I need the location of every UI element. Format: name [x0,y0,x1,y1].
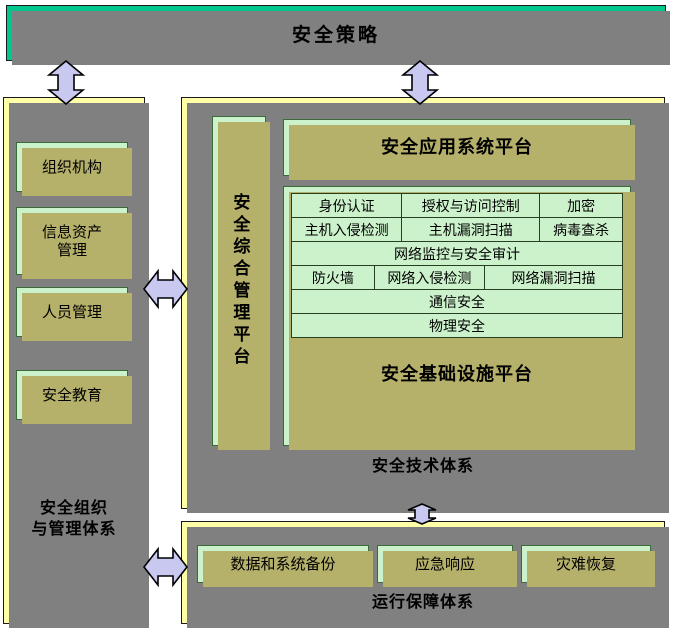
integrated-management-platform[interactable]: 安全综合管理平台 [212,116,266,446]
security-policy-banner[interactable]: 安全策略 [6,5,666,61]
management-system-label-line1: 安全组织 [3,498,145,519]
infrastructure-platform-box[interactable]: 身份认证 授权与访问控制 加密 主机入侵检测 主机漏洞扫描 病毒查杀 网络监控与… [283,186,631,446]
matrix-cell-network-ids[interactable]: 网络入侵检测 [374,266,484,290]
application-platform-box[interactable]: 安全应用系统平台 [283,119,631,176]
technical-system-label: 安全技术体系 [181,456,665,477]
management-item-asset-label-line2: 管理 [57,241,87,259]
application-platform-label: 安全应用系统平台 [381,137,533,159]
diagram-canvas: 安全策略 组织机构 信息资产 管理 人员管理 安全教育 安全组织 与管理体系 安… [0,0,675,637]
table-row: 通信安全 [292,290,623,314]
operations-item-backup-label: 数据和系统备份 [230,555,335,573]
matrix-cell-identity-auth[interactable]: 身份认证 [292,194,402,218]
management-system-label: 安全组织 与管理体系 [3,498,145,540]
matrix-cell-network-monitor-audit[interactable]: 网络监控与安全审计 [292,242,623,266]
operations-item-emergency-label: 应急响应 [415,555,475,573]
management-item-personnel-label: 人员管理 [42,303,102,321]
management-item-education-label: 安全教育 [42,386,102,404]
matrix-cell-antivirus[interactable]: 病毒查杀 [540,218,623,242]
matrix-cell-encryption[interactable]: 加密 [540,194,623,218]
matrix-cell-host-ids[interactable]: 主机入侵检测 [292,218,402,242]
arrow-management-to-technical [143,268,188,310]
management-item-personnel[interactable]: 人员管理 [16,287,128,337]
matrix-cell-network-vuln-scan[interactable]: 网络漏洞扫描 [485,266,623,290]
operations-item-disaster-recovery[interactable]: 灾难恢复 [521,545,651,583]
management-item-asset-label-line1: 信息资产 [42,223,102,241]
arrow-technical-to-operations [404,503,440,525]
management-item-organization[interactable]: 组织机构 [16,142,128,192]
table-row: 网络监控与安全审计 [292,242,623,266]
matrix-cell-firewall[interactable]: 防火墙 [292,266,375,290]
table-row: 物理安全 [292,314,623,338]
operations-system-label: 运行保障体系 [181,592,665,613]
table-row: 身份认证 授权与访问控制 加密 [292,194,623,218]
table-row: 主机入侵检测 主机漏洞扫描 病毒查杀 [292,218,623,242]
table-row: 防火墙 网络入侵检测 网络漏洞扫描 [292,266,623,290]
management-item-education[interactable]: 安全教育 [16,370,128,420]
management-system-label-line2: 与管理体系 [3,519,145,540]
matrix-cell-physical-security[interactable]: 物理安全 [292,314,623,338]
matrix-cell-authorization[interactable]: 授权与访问控制 [402,194,540,218]
operations-item-emergency[interactable]: 应急响应 [377,545,513,583]
matrix-cell-communication-security[interactable]: 通信安全 [292,290,623,314]
operations-item-disaster-recovery-label: 灾难恢复 [556,555,616,573]
matrix-cell-host-vuln-scan[interactable]: 主机漏洞扫描 [402,218,540,242]
operations-item-backup[interactable]: 数据和系统备份 [197,545,369,583]
security-policy-label: 安全策略 [292,20,380,47]
management-item-organization-label: 组织机构 [42,158,102,176]
infrastructure-platform-label: 安全基础设施平台 [291,360,623,386]
arrow-management-to-operations [143,546,188,588]
security-capability-matrix: 身份认证 授权与访问控制 加密 主机入侵检测 主机漏洞扫描 病毒查杀 网络监控与… [291,193,623,338]
arrow-policy-to-management [46,60,86,105]
integrated-management-platform-label: 安全综合管理平台 [229,193,250,369]
arrow-policy-to-technical [400,60,440,105]
management-item-asset[interactable]: 信息资产 管理 [16,207,128,275]
